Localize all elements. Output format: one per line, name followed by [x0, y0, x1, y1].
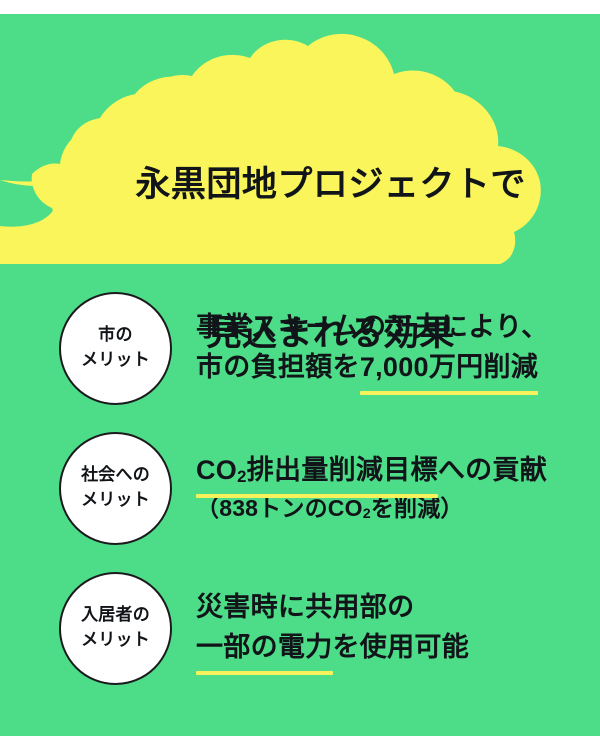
- merit-city-highlight: 7,000万円削減: [360, 348, 538, 388]
- merit-resident-line-1: 災害時に共用部の: [196, 592, 414, 622]
- green-background-panel: 永黒団地プロジェクトで 見込まれる効果 市の メリット 事業スキームの工夫により…: [0, 14, 600, 736]
- merit-text-society: CO2排出量削減目標への貢献 （838トンのCO2を削減）: [196, 451, 547, 525]
- co2-subscript: 2: [363, 506, 371, 522]
- merit-text-city: 事業スキームの工夫により、 市の負担額を7,000万円削減: [196, 308, 548, 388]
- merit-row-resident: 入居者の メリット 災害時に共用部の 一部の電力を使用可能: [0, 558, 600, 698]
- badge-label-line-1: 市の: [98, 323, 132, 348]
- infographic-root: 永黒団地プロジェクトで 見込まれる効果 市の メリット 事業スキームの工夫により…: [0, 0, 600, 750]
- merit-city-line-1: 事業スキームの工夫により、: [196, 312, 548, 342]
- merit-list: 市の メリット 事業スキームの工夫により、 市の負担額を7,000万円削減 社会…: [0, 278, 600, 698]
- merit-society-line-1-plain: への貢献: [438, 455, 547, 485]
- title-line-1: 永黒団地プロジェクトで: [135, 165, 526, 204]
- merit-row-city: 市の メリット 事業スキームの工夫により、 市の負担額を7,000万円削減: [0, 278, 600, 418]
- badge-label-line-2: メリット: [81, 488, 150, 513]
- merit-resident-highlight: 一部の電力: [196, 628, 333, 668]
- co2-prefix: CO: [196, 455, 237, 485]
- merit-resident-line-2-plain: を使用可能: [333, 632, 470, 662]
- merit-text-resident: 災害時に共用部の 一部の電力を使用可能: [196, 588, 469, 668]
- badge-label-line-1: 社会への: [81, 463, 150, 488]
- badge-label-line-2: メリット: [81, 628, 150, 653]
- badge-city-merit: 市の メリット: [59, 292, 172, 405]
- subline-prefix: （838トンのCO: [196, 495, 363, 521]
- badge-society-merit: 社会への メリット: [59, 432, 172, 545]
- co2-subscript: 2: [237, 467, 247, 486]
- merit-row-society: 社会への メリット CO2排出量削減目標への貢献 （838トンのCO2を削減）: [0, 418, 600, 558]
- badge-label-line-2: メリット: [81, 348, 150, 373]
- badge-resident-merit: 入居者の メリット: [59, 572, 172, 685]
- co2-suffix: 排出量削減目標: [247, 455, 438, 485]
- merit-society-highlight: CO2排出量削減目標: [196, 451, 438, 491]
- subline-suffix: を削減）: [371, 495, 464, 521]
- badge-label-line-1: 入居者の: [81, 603, 150, 628]
- merit-city-line-2-plain: 市の負担額を: [196, 352, 360, 382]
